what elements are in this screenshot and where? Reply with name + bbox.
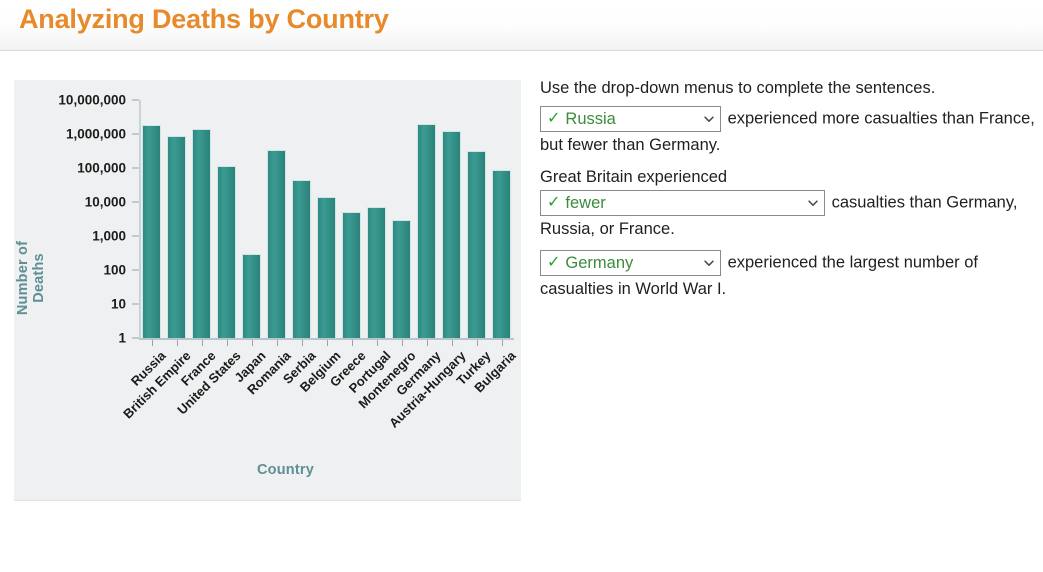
bar-greece	[342, 212, 361, 338]
x-axis-tick-mark	[502, 340, 503, 346]
y-axis-tick-label: 1	[29, 331, 139, 346]
correct-check-icon: ✓	[547, 111, 560, 127]
y-axis-tick-mark	[132, 304, 139, 305]
y-axis-line	[139, 100, 141, 338]
page-title: Analyzing Deaths by Country	[19, 4, 389, 35]
largest-casualties-select[interactable]: ✓Germany	[540, 250, 721, 276]
quantity-comparison-select-value: fewer	[565, 191, 802, 215]
x-axis-tick-mark	[252, 340, 253, 346]
y-axis-tick-label: 10,000,000	[29, 93, 139, 108]
bar-romania	[267, 150, 286, 338]
country-comparison-select-value: Russia	[565, 107, 698, 131]
y-axis-tick-label: 1,000,000	[29, 127, 139, 142]
sentence-2: Great Britain experienced✓fewer casualti…	[540, 165, 1035, 241]
x-axis-tick-mark	[302, 340, 303, 346]
bar-russia	[142, 125, 161, 338]
x-axis-tick-mark	[402, 340, 403, 346]
correct-check-icon: ✓	[547, 195, 560, 211]
y-axis-tick-label: 1,000	[29, 229, 139, 244]
bar-germany	[417, 124, 436, 338]
bar-austria-hungary	[442, 131, 461, 338]
largest-casualties-select-value: Germany	[565, 251, 698, 275]
x-axis-tick-mark	[452, 340, 453, 346]
y-axis-tick-mark	[132, 338, 139, 339]
sentence-spacer	[540, 157, 1035, 165]
sentences-container: ✓Russia experienced more casualties than…	[540, 105, 1035, 301]
x-axis-tick-mark	[152, 340, 153, 346]
y-axis-tick-label: 100	[29, 263, 139, 278]
bar-france	[192, 129, 211, 338]
question-panel: Use the drop-down menus to complete the …	[540, 78, 1035, 301]
x-axis-tick-mark	[177, 340, 178, 346]
correct-check-icon: ✓	[547, 255, 560, 271]
quantity-comparison-select[interactable]: ✓fewer	[540, 190, 825, 216]
sentence-spacer	[540, 241, 1035, 249]
y-axis-tick-mark	[132, 134, 139, 135]
x-axis-tick-mark	[477, 340, 478, 346]
dropdown-caret[interactable]	[698, 256, 716, 270]
bar-bulgaria	[492, 170, 511, 338]
x-axis-tick-mark	[227, 340, 228, 346]
x-axis-tick-mark	[352, 340, 353, 346]
y-axis-tick-label: 10,000	[29, 195, 139, 210]
page-header-bar: Analyzing Deaths by Country	[0, 0, 1043, 51]
sentence-2-lead-text: Great Britain experienced	[540, 168, 727, 186]
bar-portugal	[367, 207, 386, 338]
bar-japan	[242, 254, 261, 338]
bar-serbia	[292, 180, 311, 338]
chart-panel: Number of Deaths 10,000,0001,000,000100,…	[14, 80, 521, 501]
x-axis-tick-mark	[327, 340, 328, 346]
y-axis-tick-mark	[132, 236, 139, 237]
bar-chart: Number of Deaths 10,000,0001,000,000100,…	[14, 80, 521, 500]
x-axis-tick-mark	[277, 340, 278, 346]
y-axis-tick-label: 100,000	[29, 161, 139, 176]
dropdown-caret[interactable]	[802, 196, 820, 210]
x-axis-title-text: Country	[257, 462, 314, 478]
y-axis-tick-mark	[132, 100, 139, 101]
bar-united-states	[217, 166, 236, 338]
chevron-down-icon	[702, 112, 716, 126]
chevron-down-icon	[702, 256, 716, 270]
bar-british-empire	[167, 136, 186, 338]
x-axis-title: Country	[14, 462, 521, 478]
instruction-text: Use the drop-down menus to complete the …	[540, 78, 1035, 99]
y-axis-tick-mark	[132, 168, 139, 169]
dropdown-caret[interactable]	[698, 112, 716, 126]
y-axis-tick-mark	[132, 270, 139, 271]
y-axis-tick-label: 10	[29, 297, 139, 312]
sentence-3: ✓Germany experienced the largest number …	[540, 249, 1035, 301]
y-axis-tick-mark	[132, 202, 139, 203]
plot-area: 10,000,0001,000,000100,00010,0001,000100…	[139, 100, 514, 338]
country-comparison-select[interactable]: ✓Russia	[540, 106, 721, 132]
x-axis-tick-mark	[202, 340, 203, 346]
bar-turkey	[467, 151, 486, 338]
x-axis-tick-mark	[377, 340, 378, 346]
bar-montenegro	[392, 220, 411, 338]
bar-belgium	[317, 197, 336, 338]
chevron-down-icon	[806, 196, 820, 210]
x-axis-tick-mark	[427, 340, 428, 346]
sentence-1: ✓Russia experienced more casualties than…	[540, 105, 1035, 157]
